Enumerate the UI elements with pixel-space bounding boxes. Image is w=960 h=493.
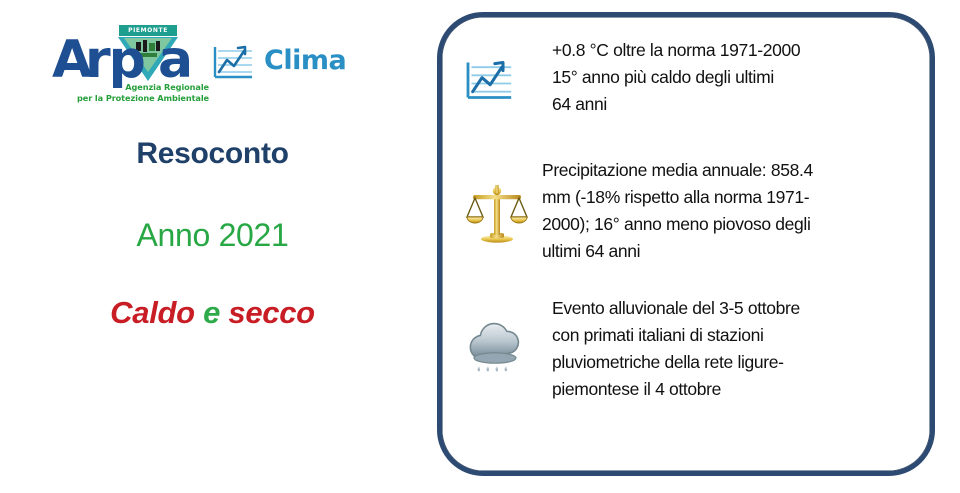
summary-bullet-precipitation: Precipitazione media annuale: 858.4 mm (… (464, 157, 916, 265)
left-column: PIEMONTE A rp a Agenzia Regionale per la… (0, 0, 425, 493)
tagline-word-dry: secco (228, 295, 314, 330)
page-title-year: Anno 2021 (0, 217, 425, 254)
arpa-piemonte-logo: PIEMONTE A rp a Agenzia Regionale per la… (52, 24, 207, 106)
summary-info-box: +0.8 °C oltre la norma 1971-2000 15° ann… (437, 12, 935, 476)
summary-bullet-text: Evento alluvionale del 3-5 ottobre con p… (538, 295, 916, 403)
arpa-subtitle: Agenzia Regionale per la Protezione Ambi… (64, 82, 209, 104)
climate-chart-icon (464, 59, 532, 129)
tagline-conjunction: e (203, 295, 220, 330)
balance-scales-icon (464, 181, 532, 251)
arpa-wordmark-rp: rp (85, 34, 144, 86)
clima-logo: Clima (212, 42, 332, 90)
page-title-tagline: Caldo e secco (0, 295, 425, 331)
summary-bullet-flood-event: Evento alluvionale del 3-5 ottobre con p… (464, 295, 916, 403)
arpa-subtitle-line-1: Agenzia Regionale (64, 82, 209, 93)
rain-cloud-icon (464, 319, 532, 389)
clima-label: Clima (264, 45, 346, 77)
arpa-wordmark-a2: a (158, 34, 191, 86)
summary-bullet-text: +0.8 °C oltre la norma 1971-2000 15° ann… (538, 37, 916, 118)
summary-bullet-temperature: +0.8 °C oltre la norma 1971-2000 15° ann… (464, 37, 916, 129)
summary-bullet-text: Precipitazione media annuale: 858.4 mm (… (538, 157, 916, 265)
tagline-word-hot: Caldo (110, 295, 195, 330)
arpa-subtitle-line-2: per la Protezione Ambientale (64, 93, 209, 104)
page-title-report: Resoconto (0, 137, 425, 171)
climate-chart-icon (212, 44, 254, 80)
